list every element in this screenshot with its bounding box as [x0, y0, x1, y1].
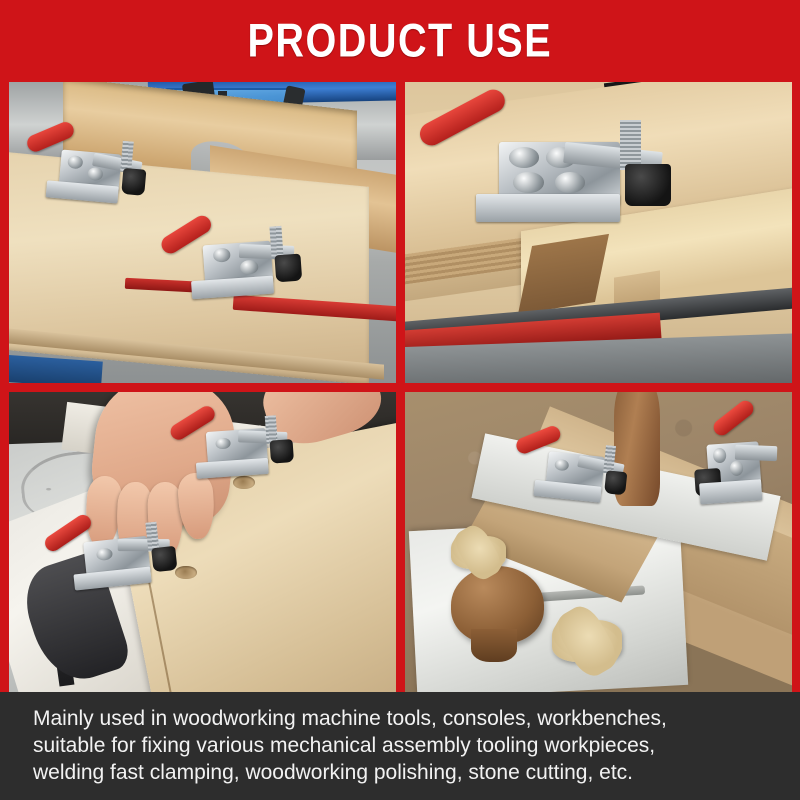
clamp-rubber-tip	[625, 164, 671, 205]
clamp-spindle	[265, 415, 277, 444]
clamp-rivet	[513, 172, 543, 193]
wooden-rosette	[451, 536, 505, 569]
product-photo-bottom-right	[405, 392, 792, 693]
clamp-rubber-tip	[151, 546, 178, 573]
clamp-base-plate	[699, 479, 763, 504]
page-title: PRODUCT USE	[248, 17, 553, 64]
toggle-clamp	[444, 106, 676, 244]
toggle-clamp	[177, 406, 298, 492]
toggle-clamp	[52, 511, 184, 605]
clamp-rubber-tip	[274, 254, 302, 283]
saw-body-edge	[9, 355, 103, 383]
clamp-rubber-tip	[121, 168, 146, 195]
product-photo-bottom-left	[9, 392, 396, 693]
toggle-clamp	[680, 412, 787, 521]
clamp-spindle	[620, 120, 641, 170]
toggle-clamp	[517, 428, 633, 517]
toggle-clamp	[29, 125, 152, 219]
caption-band: Mainly used in woodworking machine tools…	[0, 692, 800, 800]
caption-line-2: suitable for fixing various mechanical a…	[33, 732, 778, 759]
clamp-rivet	[509, 147, 539, 168]
caption-line-1: Mainly used in woodworking machine tools…	[33, 705, 778, 732]
caption-line-3: welding fast clamping, woodworking polis…	[33, 759, 778, 786]
clamp-arm	[735, 444, 778, 461]
clamp-rubber-tip	[604, 470, 628, 496]
poster-header: PRODUCT USE	[0, 0, 800, 82]
product-use-poster: PRODUCT USE	[0, 0, 800, 800]
clamp-base-plate	[191, 275, 274, 299]
wooden-rosette	[552, 620, 622, 662]
product-photo-top-left	[9, 82, 396, 383]
photo-gallery-grid	[9, 82, 792, 692]
clamp-rubber-tip	[269, 438, 294, 463]
knob-stem	[471, 629, 517, 662]
clamp-base-plate	[476, 194, 620, 222]
toggle-clamp	[169, 216, 307, 315]
product-photo-top-right	[405, 82, 792, 383]
